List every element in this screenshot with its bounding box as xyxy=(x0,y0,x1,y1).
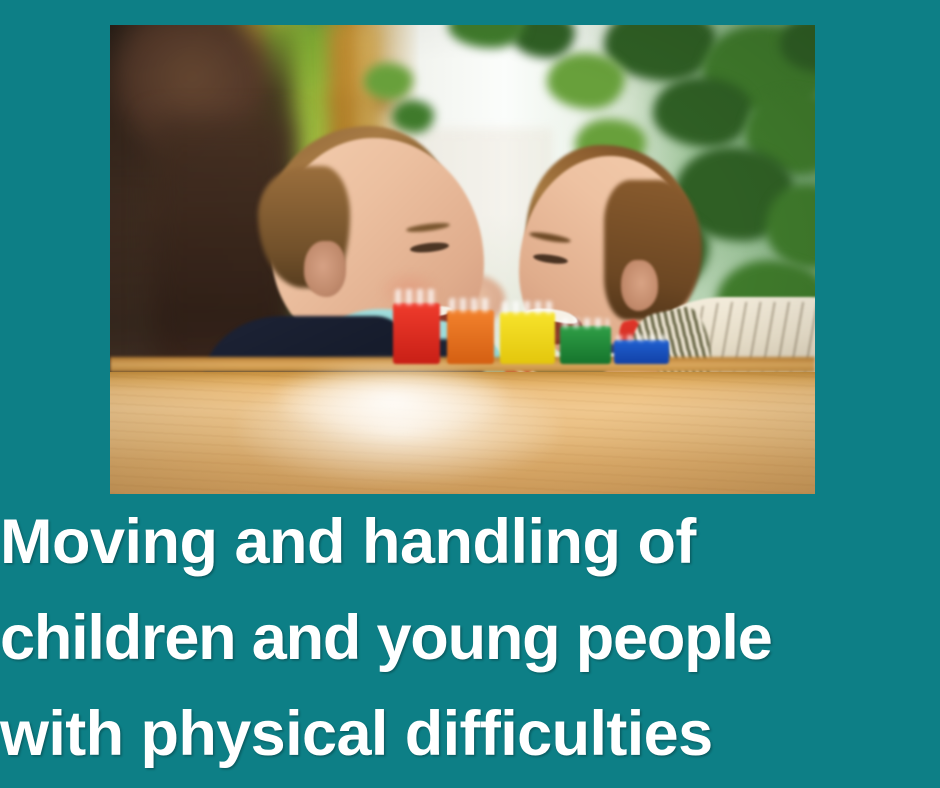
right-boy-ear xyxy=(621,260,658,312)
orange-block xyxy=(447,310,494,364)
title-line-3: with physical difficulties xyxy=(0,686,103,782)
foliage-leaf xyxy=(392,100,434,133)
title-line-2: children and young people xyxy=(0,590,169,686)
slide-canvas: BOY xyxy=(0,0,940,788)
block-studs xyxy=(502,301,553,314)
title-line-1: Moving and handling of xyxy=(0,494,150,590)
slide-title: Moving and handling of children and youn… xyxy=(0,494,940,782)
yellow-block xyxy=(500,312,555,364)
green-block xyxy=(560,326,611,364)
block-studs xyxy=(449,298,492,312)
blue-block xyxy=(614,340,669,363)
photo-two-boys-playing: BOY xyxy=(110,25,815,494)
table-highlight xyxy=(279,363,505,438)
foliage-leaf xyxy=(364,63,413,101)
red-block xyxy=(393,303,440,364)
foliage-leaf xyxy=(653,77,752,147)
block-studs xyxy=(562,318,609,328)
left-boy-ear xyxy=(304,241,346,297)
block-studs xyxy=(616,335,667,341)
block-studs xyxy=(395,289,438,305)
